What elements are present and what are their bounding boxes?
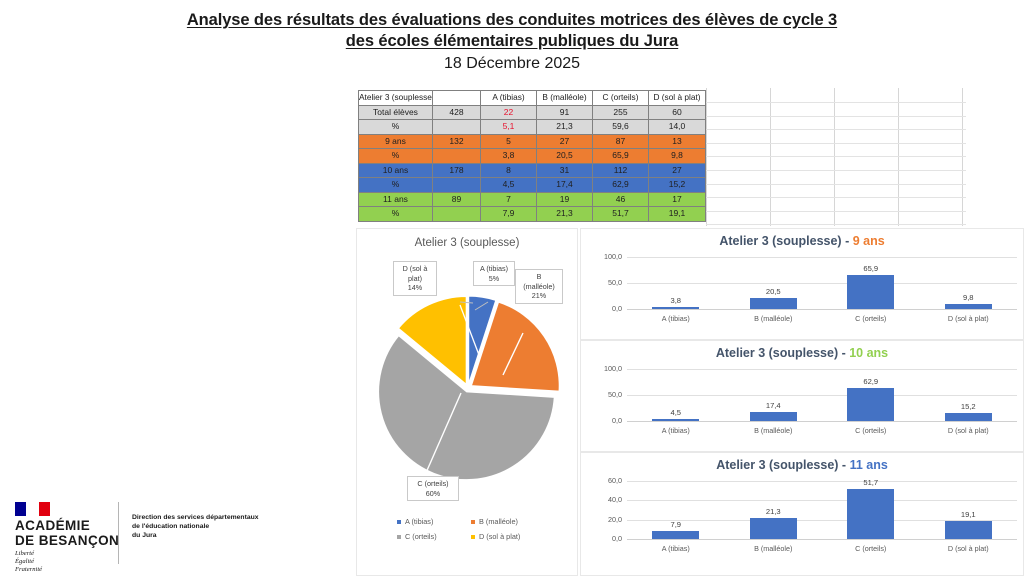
bar[interactable] bbox=[847, 275, 894, 309]
cell-c: 255 bbox=[593, 105, 649, 120]
legend-item[interactable]: A (tibias) bbox=[397, 517, 471, 526]
bar-chart-panel-9ans: Atelier 3 (souplesse) - 9 ans 0,050,0100… bbox=[580, 228, 1024, 340]
cell-b: 21,3 bbox=[537, 207, 593, 222]
y-axis-tick-label: 0,0 bbox=[594, 304, 622, 313]
cell-b: 27 bbox=[537, 134, 593, 149]
grid-hline bbox=[706, 102, 966, 103]
bar-value-label: 19,1 bbox=[946, 510, 990, 519]
cell-c: 51,7 bbox=[593, 207, 649, 222]
cell-a: 3,8 bbox=[481, 149, 537, 164]
cell-d: 60 bbox=[649, 105, 706, 120]
row-label: 9 ans bbox=[359, 134, 433, 149]
bar-chart-title-10ans: Atelier 3 (souplesse) - 10 ans bbox=[581, 346, 1023, 360]
x-axis-line bbox=[627, 421, 1017, 422]
bar-value-label: 65,9 bbox=[849, 264, 893, 273]
y-gridline bbox=[627, 500, 1017, 501]
page-subtitle-date: 18 Décembre 2025 bbox=[0, 53, 1024, 75]
french-flag-icon bbox=[15, 502, 51, 516]
y-axis-tick-label: 0,0 bbox=[594, 416, 622, 425]
spreadsheet-region: Atelier 3 (souplesse) A (tibias) B (mall… bbox=[356, 88, 1024, 228]
table-header-cell-label: Atelier 3 (souplesse) bbox=[359, 91, 433, 106]
y-axis-tick-label: 100,0 bbox=[594, 252, 622, 261]
bar-chart-title-11ans: Atelier 3 (souplesse) - 11 ans bbox=[581, 458, 1023, 472]
y-axis-tick-label: 50,0 bbox=[594, 278, 622, 287]
cell-d: 17 bbox=[649, 192, 706, 207]
cell-c: 87 bbox=[593, 134, 649, 149]
bar-chart-title-main-11ans: Atelier 3 (souplesse) - bbox=[716, 458, 849, 472]
cell-total: 428 bbox=[433, 105, 481, 120]
pie-slices bbox=[379, 296, 560, 480]
cell-total: 132 bbox=[433, 134, 481, 149]
bar-value-label: 7,9 bbox=[654, 520, 698, 529]
bar[interactable] bbox=[945, 304, 992, 309]
legend-label: A (tibias) bbox=[405, 517, 433, 526]
row-label: 11 ans bbox=[359, 192, 433, 207]
table-row[interactable]: Total élèves428229125560 bbox=[359, 105, 706, 120]
bar[interactable] bbox=[847, 388, 894, 421]
x-axis-category-label: D (sol à plat) bbox=[926, 314, 1010, 323]
y-axis-tick-label: 50,0 bbox=[594, 390, 622, 399]
page-title-line-1-text: Analyse des résultats des évaluations de… bbox=[187, 11, 837, 29]
x-axis-category-label: D (sol à plat) bbox=[926, 426, 1010, 435]
dsden-label: Direction des services départementauxde … bbox=[132, 513, 292, 540]
page-title-line-2-text: des écoles élémentaires publiques du Jur… bbox=[346, 32, 678, 50]
x-axis-category-label: A (tibias) bbox=[634, 314, 718, 323]
cell-c: 62,9 bbox=[593, 178, 649, 193]
legend-swatch-icon bbox=[397, 520, 401, 524]
bar-value-label: 15,2 bbox=[946, 402, 990, 411]
grid-hline bbox=[706, 184, 966, 185]
table-row[interactable]: %7,921,351,719,1 bbox=[359, 207, 706, 222]
bar[interactable] bbox=[750, 412, 797, 421]
republic-motto: LibertéÉgalitéFraternité bbox=[15, 550, 42, 574]
flag-band-red bbox=[39, 502, 50, 516]
legend-item[interactable]: C (orteils) bbox=[397, 532, 471, 541]
cell-total bbox=[433, 207, 481, 222]
cell-b: 91 bbox=[537, 105, 593, 120]
cell-d: 27 bbox=[649, 163, 706, 178]
table-body: Total élèves428229125560%5,121,359,614,0… bbox=[359, 105, 706, 221]
cell-c: 112 bbox=[593, 163, 649, 178]
legend-label: C (orteils) bbox=[405, 532, 437, 541]
bar[interactable] bbox=[847, 489, 894, 539]
legend-swatch-icon bbox=[397, 535, 401, 539]
bar-value-label: 17,4 bbox=[751, 401, 795, 410]
x-axis-category-label: C (orteils) bbox=[829, 544, 913, 553]
grid-hline bbox=[706, 224, 966, 225]
table-header-cell-c: C (orteils) bbox=[593, 91, 649, 106]
legend-row: A (tibias)B (malléole) bbox=[397, 517, 547, 526]
empty-spreadsheet-grid bbox=[706, 88, 1024, 226]
bar-value-label: 62,9 bbox=[849, 377, 893, 386]
bar-chart-title-9ans: Atelier 3 (souplesse) - 9 ans bbox=[581, 234, 1023, 248]
bar[interactable] bbox=[652, 419, 699, 421]
y-gridline bbox=[627, 283, 1017, 284]
bar-value-label: 3,8 bbox=[654, 296, 698, 305]
table-row[interactable]: %3,820,565,99,8 bbox=[359, 149, 706, 164]
x-axis-line bbox=[627, 309, 1017, 310]
x-axis-category-label: B (malléole) bbox=[731, 544, 815, 553]
academy-name: ACADÉMIEDE BESANÇON bbox=[15, 518, 119, 548]
bar[interactable] bbox=[652, 531, 699, 539]
y-gridline bbox=[627, 369, 1017, 370]
bar-chart-title-age-9ans: 9 ans bbox=[853, 234, 885, 248]
cell-total bbox=[433, 149, 481, 164]
cell-b: 19 bbox=[537, 192, 593, 207]
page-title-line-2: des écoles élémentaires publiques du Jur… bbox=[0, 31, 1024, 52]
cell-b: 17,4 bbox=[537, 178, 593, 193]
legend-row: C (orteils)D (sol à plat) bbox=[397, 532, 547, 541]
cell-total bbox=[433, 178, 481, 193]
results-table[interactable]: Atelier 3 (souplesse) A (tibias) B (mall… bbox=[358, 90, 706, 222]
legend-swatch-icon bbox=[471, 520, 475, 524]
pie-chart-legend[interactable]: A (tibias)B (malléole)C (orteils)D (sol … bbox=[397, 517, 547, 547]
cell-a: 22 bbox=[481, 105, 537, 120]
row-label: % bbox=[359, 120, 433, 135]
table-header-cell-b: B (malléole) bbox=[537, 91, 593, 106]
row-label: % bbox=[359, 207, 433, 222]
cell-total: 178 bbox=[433, 163, 481, 178]
table-row[interactable]: %4,517,462,915,2 bbox=[359, 178, 706, 193]
row-label: Total élèves bbox=[359, 105, 433, 120]
bar-value-label: 20,5 bbox=[751, 287, 795, 296]
cell-a: 8 bbox=[481, 163, 537, 178]
table-header-cell-d: D (sol à plat) bbox=[649, 91, 706, 106]
bar-chart-panel-11ans: Atelier 3 (souplesse) - 11 ans 0,020,040… bbox=[580, 452, 1024, 576]
cell-a: 5,1 bbox=[481, 120, 537, 135]
pie-callout-d: D (sol à plat) 14% bbox=[393, 261, 437, 296]
cell-total bbox=[433, 120, 481, 135]
pie-callout-c: C (orteils) 60% bbox=[407, 476, 459, 501]
bar[interactable] bbox=[945, 413, 992, 421]
cell-total: 89 bbox=[433, 192, 481, 207]
grid-hline bbox=[706, 129, 966, 130]
cell-d: 15,2 bbox=[649, 178, 706, 193]
x-axis-line bbox=[627, 539, 1017, 540]
footer-branding: ACADÉMIEDE BESANÇON LibertéÉgalitéFrater… bbox=[10, 500, 310, 570]
cell-c: 59,6 bbox=[593, 120, 649, 135]
table-row[interactable]: 9 ans1325278713 bbox=[359, 134, 706, 149]
bar-chart-title-age-10ans: 10 ans bbox=[849, 346, 888, 360]
flag-band-blue bbox=[15, 502, 26, 516]
x-axis-category-label: C (orteils) bbox=[829, 314, 913, 323]
pie-chart-panel: Atelier 3 (souplesse) D (sol à plat) 14%… bbox=[356, 228, 578, 576]
bar-value-label: 4,5 bbox=[654, 408, 698, 417]
cell-d: 19,1 bbox=[649, 207, 706, 222]
bar-chart-title-main-9ans: Atelier 3 (souplesse) - bbox=[719, 234, 852, 248]
y-gridline bbox=[627, 481, 1017, 482]
cell-d: 9,8 bbox=[649, 149, 706, 164]
table-head: Atelier 3 (souplesse) A (tibias) B (mall… bbox=[359, 91, 706, 106]
row-label: 10 ans bbox=[359, 163, 433, 178]
grid-hline bbox=[706, 156, 966, 157]
grid-hline bbox=[706, 116, 966, 117]
page-title-line-1: Analyse des résultats des évaluations de… bbox=[0, 10, 1024, 31]
cell-a: 5 bbox=[481, 134, 537, 149]
grid-hline bbox=[706, 170, 966, 171]
grid-hline bbox=[706, 197, 966, 198]
x-axis-category-label: A (tibias) bbox=[634, 544, 718, 553]
y-axis-tick-label: 0,0 bbox=[594, 534, 622, 543]
cell-c: 46 bbox=[593, 192, 649, 207]
flag-band-white bbox=[27, 502, 38, 516]
legend-item[interactable]: B (malléole) bbox=[471, 517, 545, 526]
bar-chart-title-main-10ans: Atelier 3 (souplesse) - bbox=[716, 346, 849, 360]
bar[interactable] bbox=[652, 307, 699, 309]
bar[interactable] bbox=[750, 298, 797, 309]
bar-value-label: 9,8 bbox=[946, 293, 990, 302]
cell-a: 7 bbox=[481, 192, 537, 207]
cell-d: 13 bbox=[649, 134, 706, 149]
cell-c: 65,9 bbox=[593, 149, 649, 164]
y-gridline bbox=[627, 395, 1017, 396]
cell-b: 31 bbox=[537, 163, 593, 178]
bar-chart-title-age-11ans: 11 ans bbox=[850, 458, 888, 472]
legend-swatch-icon bbox=[471, 535, 475, 539]
x-axis-category-label: A (tibias) bbox=[634, 426, 718, 435]
pie-chart-title: Atelier 3 (souplesse) bbox=[357, 237, 577, 249]
title-block: Analyse des résultats des évaluations de… bbox=[0, 10, 1024, 75]
x-axis-category-label: B (malléole) bbox=[731, 314, 815, 323]
table-header-cell-total bbox=[433, 91, 481, 106]
y-axis-tick-label: 40,0 bbox=[594, 495, 622, 504]
legend-label: B (malléole) bbox=[479, 517, 518, 526]
legend-item[interactable]: D (sol à plat) bbox=[471, 532, 545, 541]
grid-hline bbox=[706, 143, 966, 144]
cell-a: 4,5 bbox=[481, 178, 537, 193]
x-axis-category-label: D (sol à plat) bbox=[926, 544, 1010, 553]
table-row[interactable]: 11 ans897194617 bbox=[359, 192, 706, 207]
bar-value-label: 21,3 bbox=[751, 507, 795, 516]
pie-callout-a: A (tibias) 5% bbox=[473, 261, 515, 286]
footer-divider bbox=[118, 502, 119, 564]
row-label: % bbox=[359, 149, 433, 164]
cell-d: 14,0 bbox=[649, 120, 706, 135]
table-header-row: Atelier 3 (souplesse) A (tibias) B (mall… bbox=[359, 91, 706, 106]
slide-canvas: Analyse des résultats des évaluations de… bbox=[0, 0, 1024, 576]
bar[interactable] bbox=[945, 521, 992, 539]
bar-value-label: 51,7 bbox=[849, 478, 893, 487]
cell-b: 20,5 bbox=[537, 149, 593, 164]
y-axis-tick-label: 100,0 bbox=[594, 364, 622, 373]
row-label: % bbox=[359, 178, 433, 193]
table-row[interactable]: %5,121,359,614,0 bbox=[359, 120, 706, 135]
table-row[interactable]: 10 ans17883111227 bbox=[359, 163, 706, 178]
bar[interactable] bbox=[750, 518, 797, 539]
grid-hline bbox=[706, 211, 966, 212]
legend-label: D (sol à plat) bbox=[479, 532, 520, 541]
cell-b: 21,3 bbox=[537, 120, 593, 135]
pie-callout-b: B (malléole) 21% bbox=[515, 269, 563, 304]
y-gridline bbox=[627, 257, 1017, 258]
x-axis-category-label: C (orteils) bbox=[829, 426, 913, 435]
cell-a: 7,9 bbox=[481, 207, 537, 222]
y-axis-tick-label: 20,0 bbox=[594, 515, 622, 524]
x-axis-category-label: B (malléole) bbox=[731, 426, 815, 435]
table-header-cell-a: A (tibias) bbox=[481, 91, 537, 106]
y-axis-tick-label: 60,0 bbox=[594, 476, 622, 485]
bar-chart-panel-10ans: Atelier 3 (souplesse) - 10 ans 0,050,010… bbox=[580, 340, 1024, 452]
